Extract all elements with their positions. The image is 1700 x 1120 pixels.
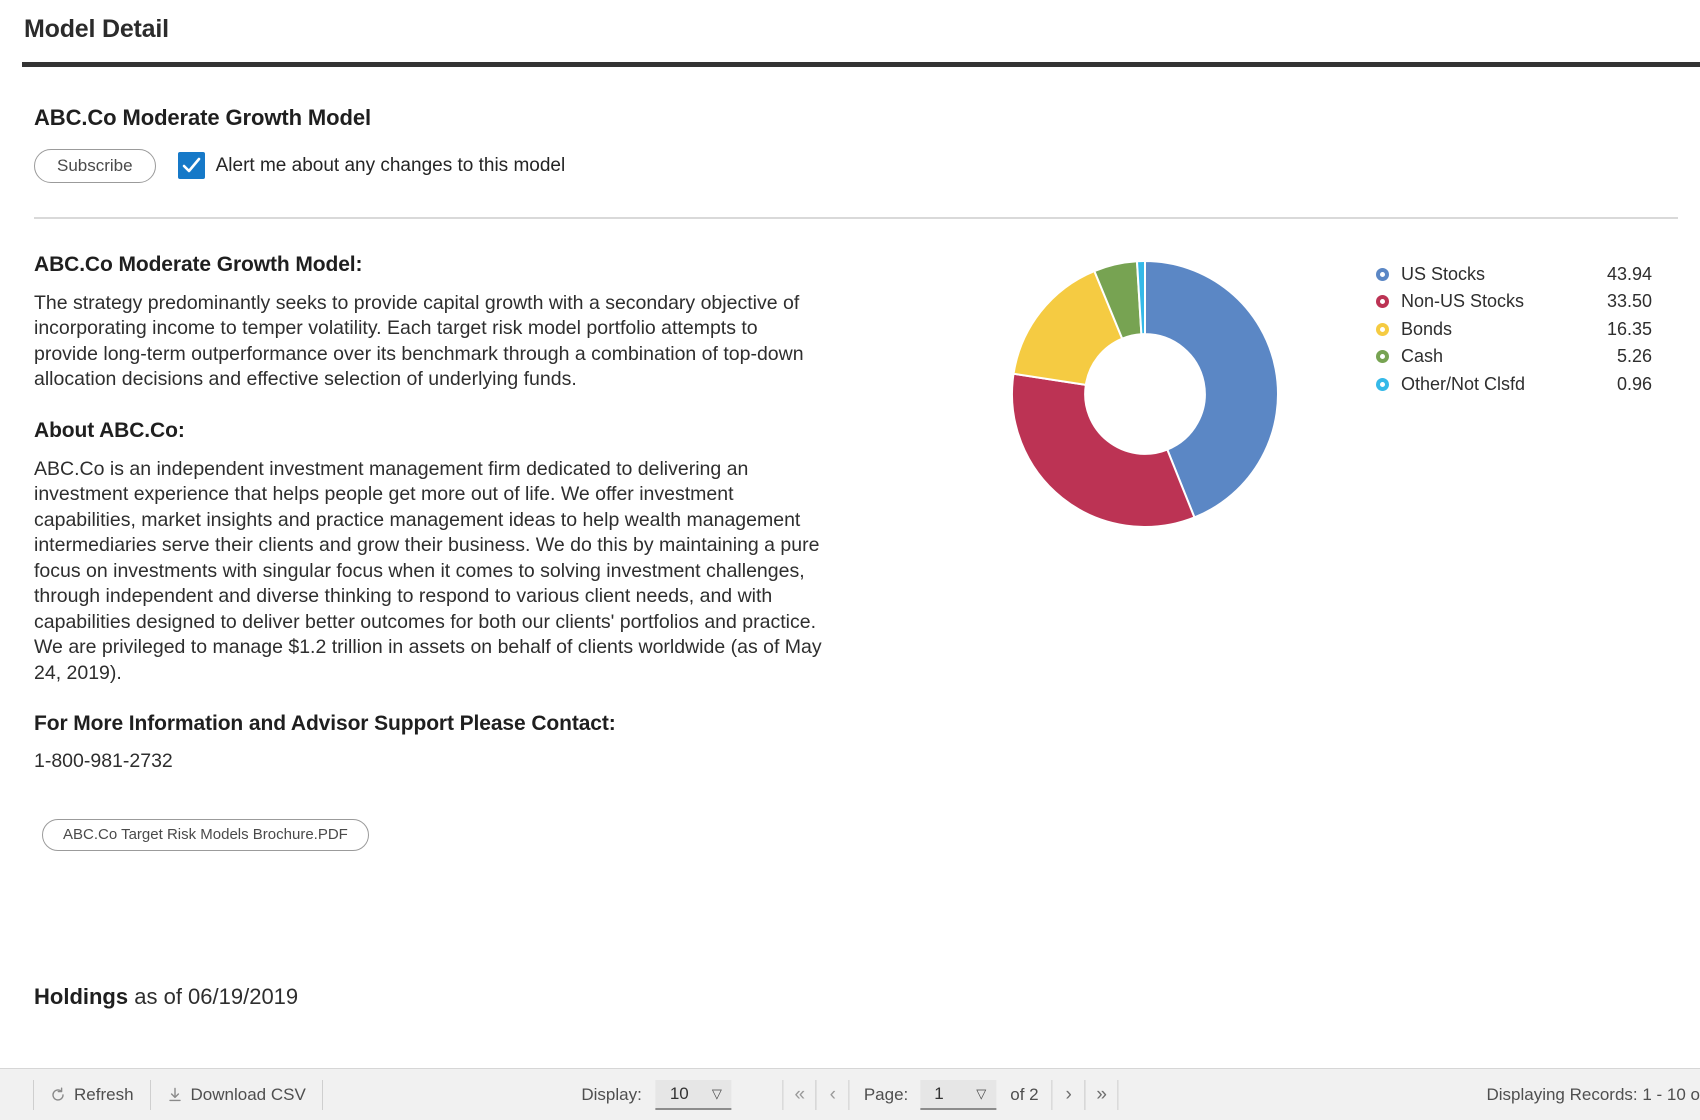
holdings-label: Holdings	[34, 984, 128, 1009]
subscribe-button[interactable]: Subscribe	[34, 149, 156, 183]
allocation-legend: US Stocks43.94Non-US Stocks33.50Bonds16.…	[1376, 261, 1676, 399]
donut-slice	[1012, 373, 1194, 526]
legend-label: Cash	[1401, 346, 1617, 367]
alert-checkbox-group[interactable]: Alert me about any changes to this model	[178, 152, 566, 179]
model-name: ABC.Co Moderate Growth Model	[34, 105, 1700, 131]
download-icon	[167, 1087, 183, 1103]
model-description-paragraph: The strategy predominantly seeks to prov…	[34, 291, 824, 393]
prev-page-button[interactable]: ‹	[816, 1080, 850, 1110]
legend-value: 0.96	[1617, 374, 1676, 395]
model-detail-page: Model Detail ABC.Co Moderate Growth Mode…	[0, 0, 1700, 1120]
description-column: ABC.Co Moderate Growth Model: The strate…	[0, 253, 840, 852]
refresh-icon	[50, 1087, 66, 1103]
alert-checkbox[interactable]	[178, 152, 205, 179]
holdings-toolbar: Refresh Download CSV Display: 10 ▽ « ‹ P…	[0, 1068, 1700, 1120]
contact-heading: For More Information and Advisor Support…	[34, 712, 826, 736]
legend-row: Cash5.26	[1376, 343, 1676, 371]
allocation-donut-chart	[1010, 259, 1280, 529]
first-page-button[interactable]: «	[783, 1080, 817, 1110]
legend-row: Other/Not Clsfd0.96	[1376, 371, 1676, 399]
last-page-button[interactable]: »	[1085, 1080, 1119, 1110]
legend-label: US Stocks	[1401, 264, 1607, 285]
legend-label: Non-US Stocks	[1401, 291, 1607, 312]
display-label: Display:	[581, 1085, 641, 1105]
download-csv-button[interactable]: Download CSV	[150, 1080, 323, 1110]
donut-svg	[1010, 259, 1280, 529]
page-title: Model Detail	[24, 16, 1700, 44]
records-status: Displaying Records: 1 - 10 o	[1486, 1085, 1700, 1105]
refresh-button[interactable]: Refresh	[33, 1080, 151, 1110]
contact-phone: 1-800-981-2732	[34, 750, 826, 773]
page-total-label: of 2	[996, 1085, 1052, 1105]
body-area: ABC.Co Moderate Growth Model: The strate…	[0, 219, 1700, 852]
page-size-select[interactable]: 10 ▽	[656, 1080, 732, 1110]
holdings-asof: as of 06/19/2019	[134, 984, 298, 1009]
legend-value: 43.94	[1607, 264, 1676, 285]
chevron-down-icon: ▽	[976, 1086, 986, 1102]
page-size-value: 10	[670, 1084, 689, 1104]
chevron-down-icon: ▽	[712, 1086, 722, 1102]
page-header: Model Detail	[0, 0, 1700, 44]
model-description-heading: ABC.Co Moderate Growth Model:	[34, 253, 826, 277]
page-number-value: 1	[934, 1084, 943, 1104]
about-paragraph: ABC.Co is an independent investment mana…	[34, 457, 824, 687]
brochure-pdf-button[interactable]: ABC.Co Target Risk Models Brochure.PDF	[42, 819, 369, 851]
legend-value: 33.50	[1607, 291, 1676, 312]
subscribe-row: Subscribe Alert me about any changes to …	[34, 149, 1700, 183]
about-heading: About ABC.Co:	[34, 419, 826, 443]
legend-marker-icon	[1376, 350, 1389, 363]
page-label: Page:	[850, 1085, 920, 1105]
legend-marker-icon	[1376, 323, 1389, 336]
legend-value: 16.35	[1607, 319, 1676, 340]
model-summary-block: ABC.Co Moderate Growth Model Subscribe A…	[0, 67, 1700, 183]
download-csv-label: Download CSV	[191, 1080, 306, 1110]
legend-marker-icon	[1376, 378, 1389, 391]
holdings-heading: Holdings as of 06/19/2019	[34, 984, 298, 1010]
page-nav-group: « ‹ Page: 1 ▽ of 2 › »	[784, 1080, 1119, 1110]
alert-label: Alert me about any changes to this model	[216, 155, 566, 177]
toolbar-left-group: Refresh Download CSV	[0, 1080, 323, 1110]
legend-label: Bonds	[1401, 319, 1607, 340]
legend-label: Other/Not Clsfd	[1401, 374, 1617, 395]
legend-value: 5.26	[1617, 346, 1676, 367]
legend-marker-icon	[1376, 268, 1389, 281]
legend-row: Non-US Stocks33.50	[1376, 288, 1676, 316]
page-number-select[interactable]: 1 ▽	[920, 1080, 996, 1110]
allocation-chart-column: US Stocks43.94Non-US Stocks33.50Bonds16.…	[840, 253, 1700, 529]
legend-marker-icon	[1376, 295, 1389, 308]
refresh-label: Refresh	[74, 1080, 134, 1110]
next-page-button[interactable]: ›	[1052, 1080, 1086, 1110]
legend-row: Bonds16.35	[1376, 316, 1676, 344]
pagination-group: Display: 10 ▽ « ‹ Page: 1 ▽ of 2 › »	[581, 1080, 1118, 1110]
legend-row: US Stocks43.94	[1376, 261, 1676, 289]
check-icon	[181, 155, 202, 176]
